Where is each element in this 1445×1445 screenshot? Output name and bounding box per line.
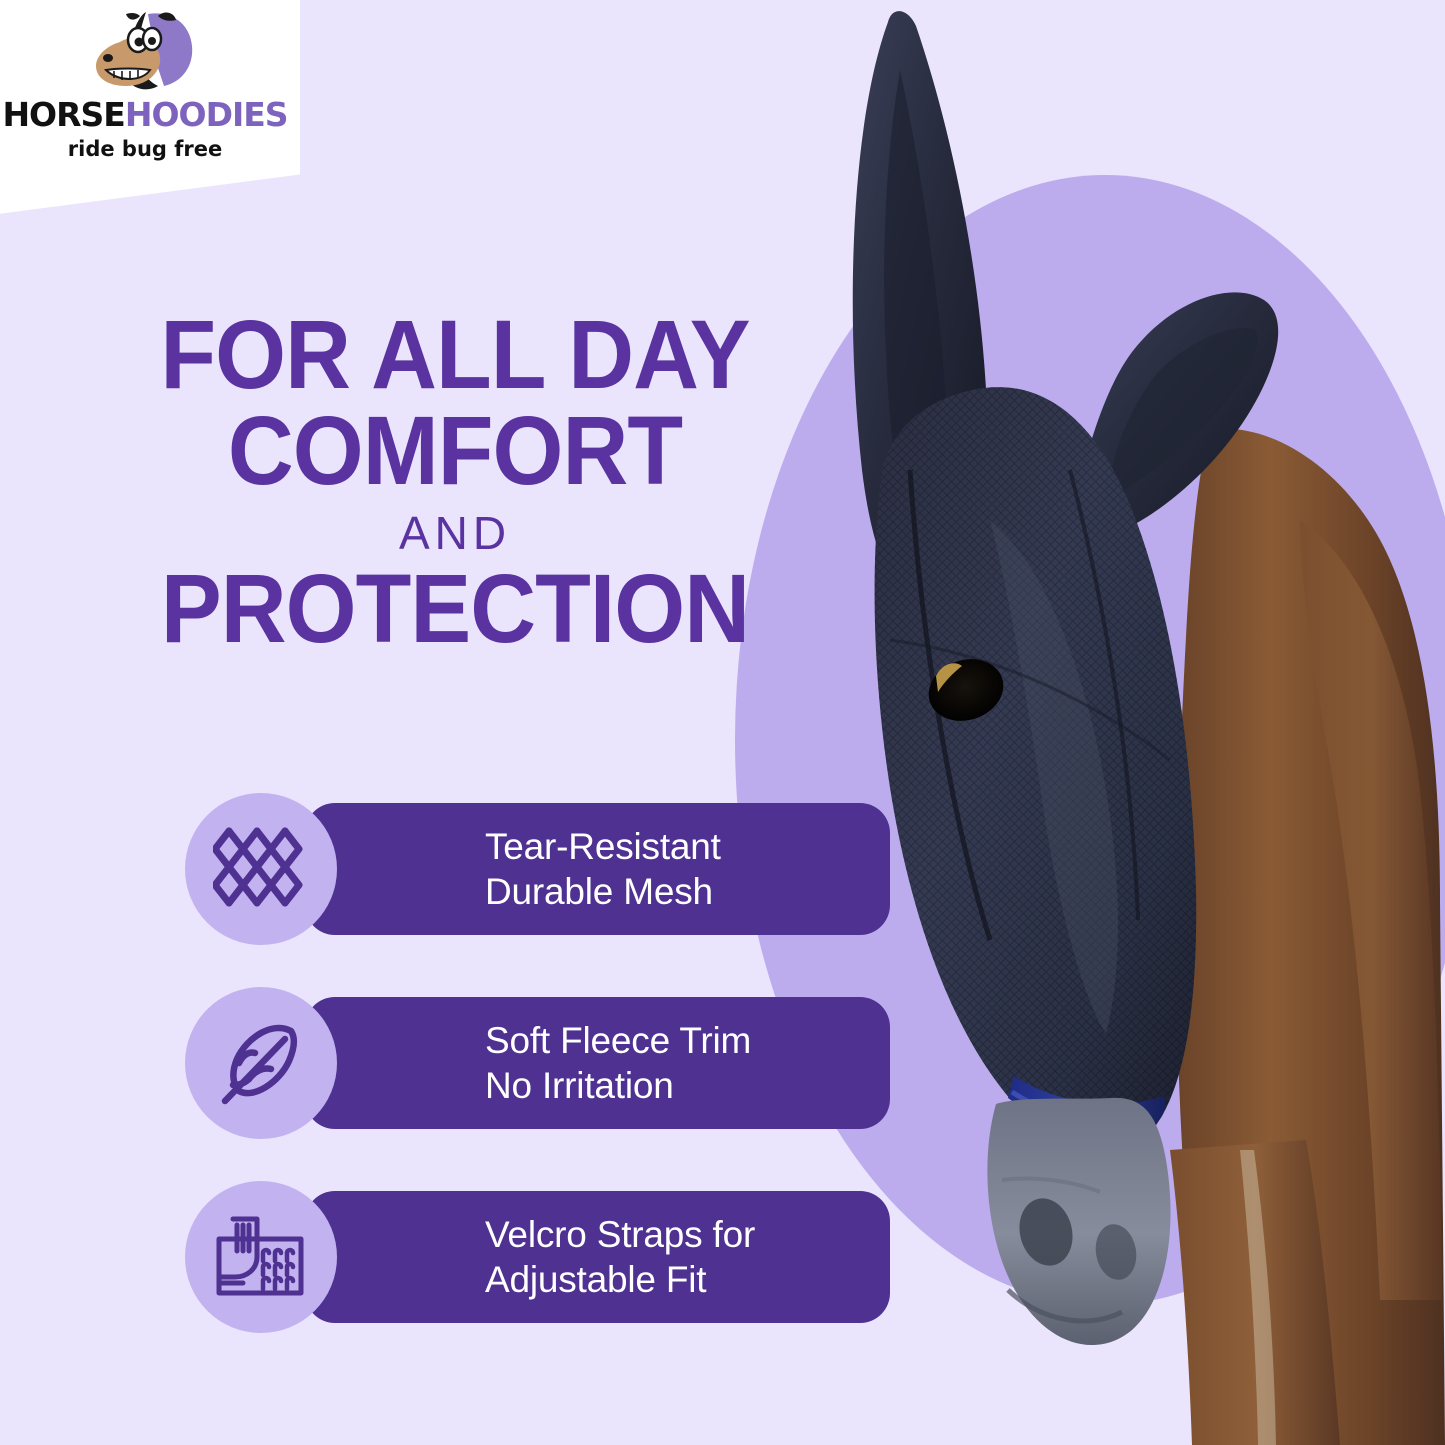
- feature-pill[interactable]: Tear-Resistant Durable Mesh: [305, 803, 890, 935]
- horse-head-hoodie-icon: [86, 6, 206, 98]
- feature-text-line-1: Tear-Resistant: [485, 824, 721, 869]
- feature-text: Tear-Resistant Durable Mesh: [485, 824, 721, 914]
- feature-text-line-1: Soft Fleece Trim: [485, 1018, 751, 1063]
- headline-block: FOR ALL DAY COMFORT AND PROTECTION: [60, 310, 850, 655]
- feature-text-line-1: Velcro Straps for: [485, 1212, 755, 1257]
- feather-icon: [213, 1015, 309, 1111]
- headline-line-1: FOR ALL DAY: [84, 310, 827, 400]
- headline-line-3: AND: [60, 510, 850, 556]
- feature-text-line-2: Durable Mesh: [485, 869, 721, 914]
- feature-pill[interactable]: Velcro Straps for Adjustable Fit: [305, 1191, 890, 1323]
- headline-line-2: COMFORT: [84, 406, 827, 496]
- feature-icon-circle: [185, 1181, 337, 1333]
- mesh-lattice-icon: [213, 821, 309, 917]
- headline-line-4: PROTECTION: [84, 564, 827, 654]
- feature-text: Velcro Straps for Adjustable Fit: [485, 1212, 755, 1302]
- feature-icon-circle: [185, 793, 337, 945]
- brand-word-horse: HORSE: [2, 95, 124, 134]
- feature-text: Soft Fleece Trim No Irritation: [485, 1018, 751, 1108]
- feature-pill[interactable]: Soft Fleece Trim No Irritation: [305, 997, 890, 1129]
- velcro-strap-icon: [213, 1209, 309, 1305]
- feature-icon-circle: [185, 987, 337, 1139]
- brand-tagline: ride bug free: [0, 137, 300, 161]
- marketing-graphic: HORSEHOODIES ride bug free FOR ALL DAY C…: [0, 0, 1445, 1445]
- brand-word-hoodies: HOODIES: [125, 95, 288, 134]
- brand-logo-panel[interactable]: HORSEHOODIES ride bug free: [0, 0, 300, 215]
- feature-text-line-2: Adjustable Fit: [485, 1257, 755, 1302]
- feature-text-line-2: No Irritation: [485, 1063, 751, 1108]
- brand-wordmark: HORSEHOODIES: [0, 98, 300, 131]
